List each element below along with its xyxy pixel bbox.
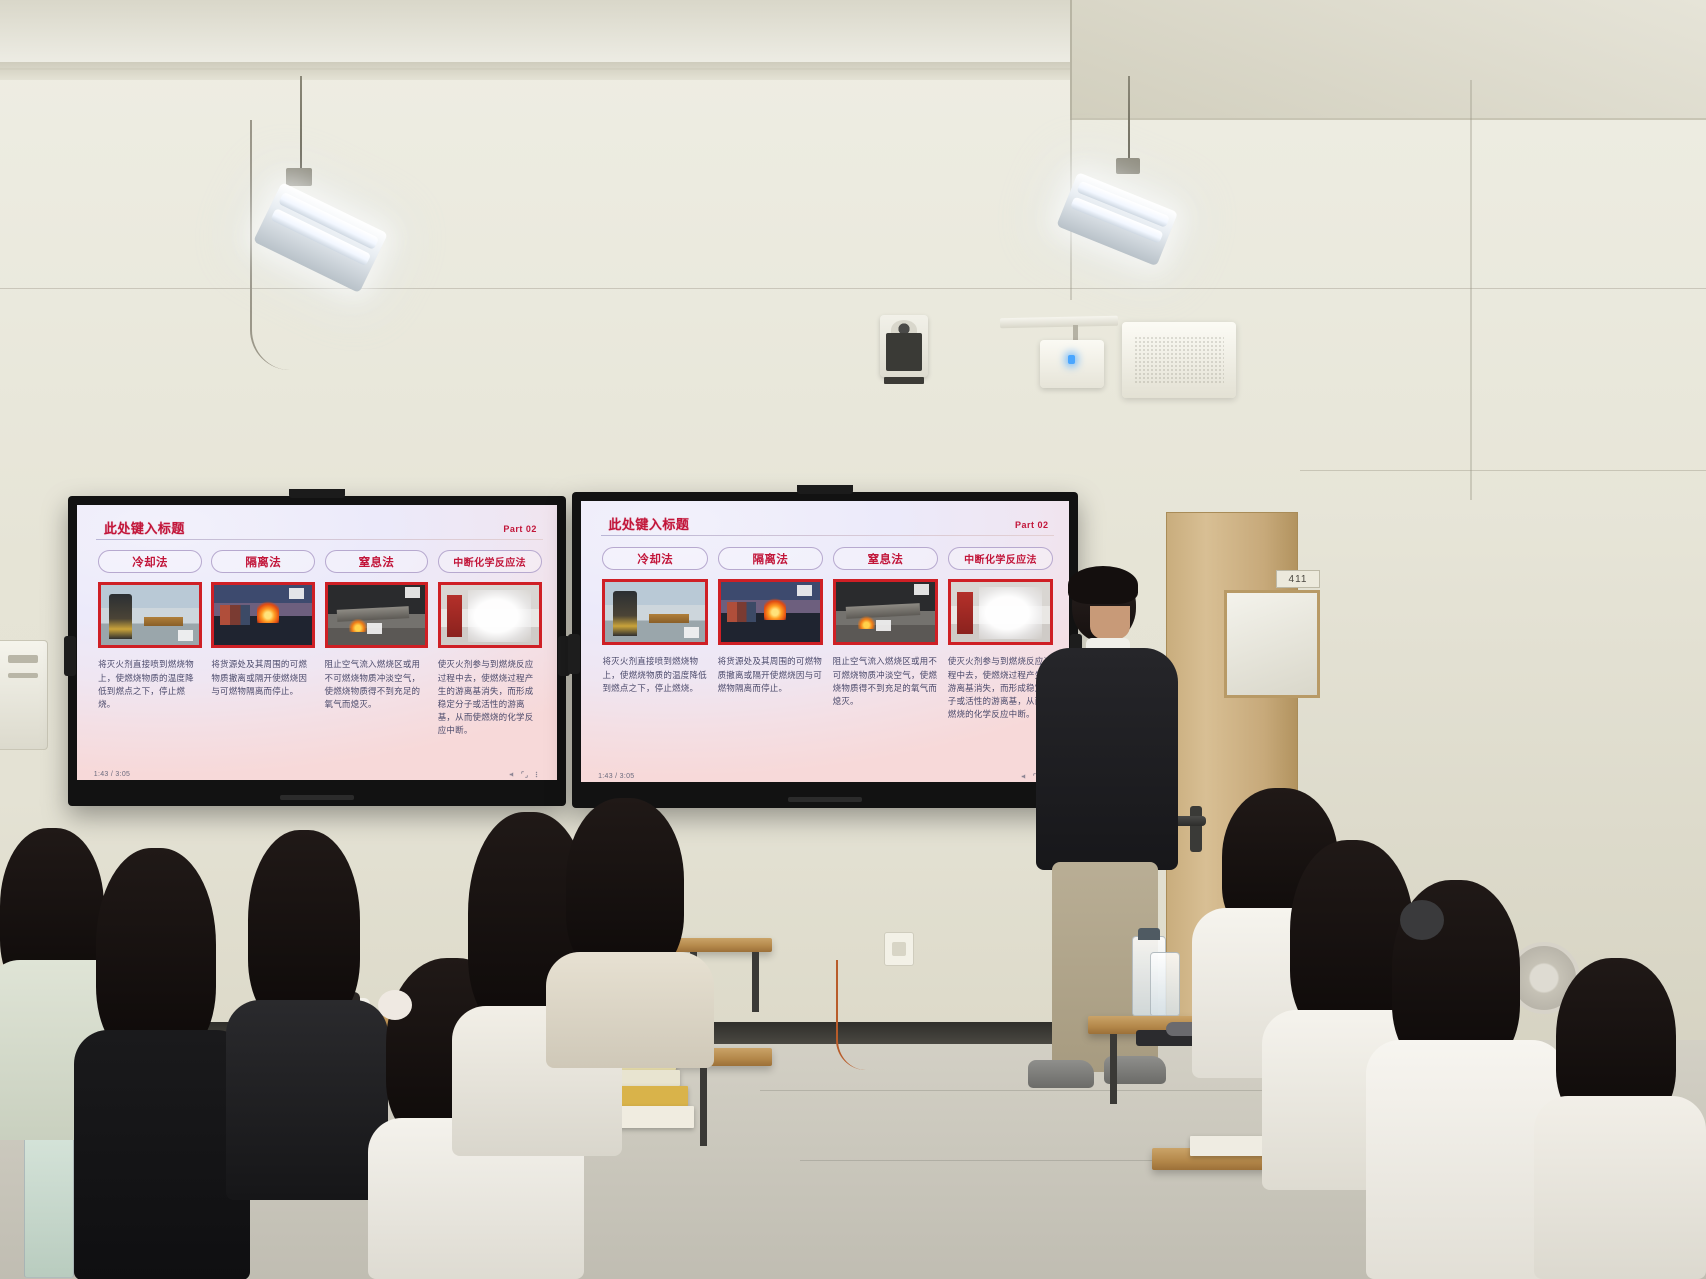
student-hair — [566, 798, 684, 976]
student-hair — [96, 848, 216, 1058]
teacher-jacket — [1036, 648, 1178, 870]
desk-leg — [752, 952, 759, 1012]
water-bottle — [24, 1116, 74, 1278]
hair-scrunchie — [1400, 900, 1444, 940]
teacher-shoe — [1028, 1060, 1094, 1088]
desk — [672, 938, 772, 952]
water-bottle — [1150, 952, 1180, 1016]
teacher-face — [1090, 606, 1130, 640]
student-top — [546, 952, 714, 1068]
bottle-cap — [1138, 928, 1160, 940]
classroom-scene: 411 此处键入标题 Part 02 冷却法 将灭火剂直接喷到燃烧物上，使燃烧物… — [0, 0, 1706, 1279]
desk-leg — [1110, 1034, 1117, 1104]
student-top — [1534, 1096, 1706, 1279]
classroom-foreground — [0, 0, 1706, 1279]
teacher-hair — [1068, 566, 1138, 604]
power-cord — [836, 960, 896, 1070]
desk-leg — [700, 1066, 707, 1146]
student-top — [226, 1000, 388, 1200]
student-hair — [248, 830, 360, 1026]
hair-scrunchie — [378, 990, 412, 1020]
student-top — [74, 1030, 250, 1279]
